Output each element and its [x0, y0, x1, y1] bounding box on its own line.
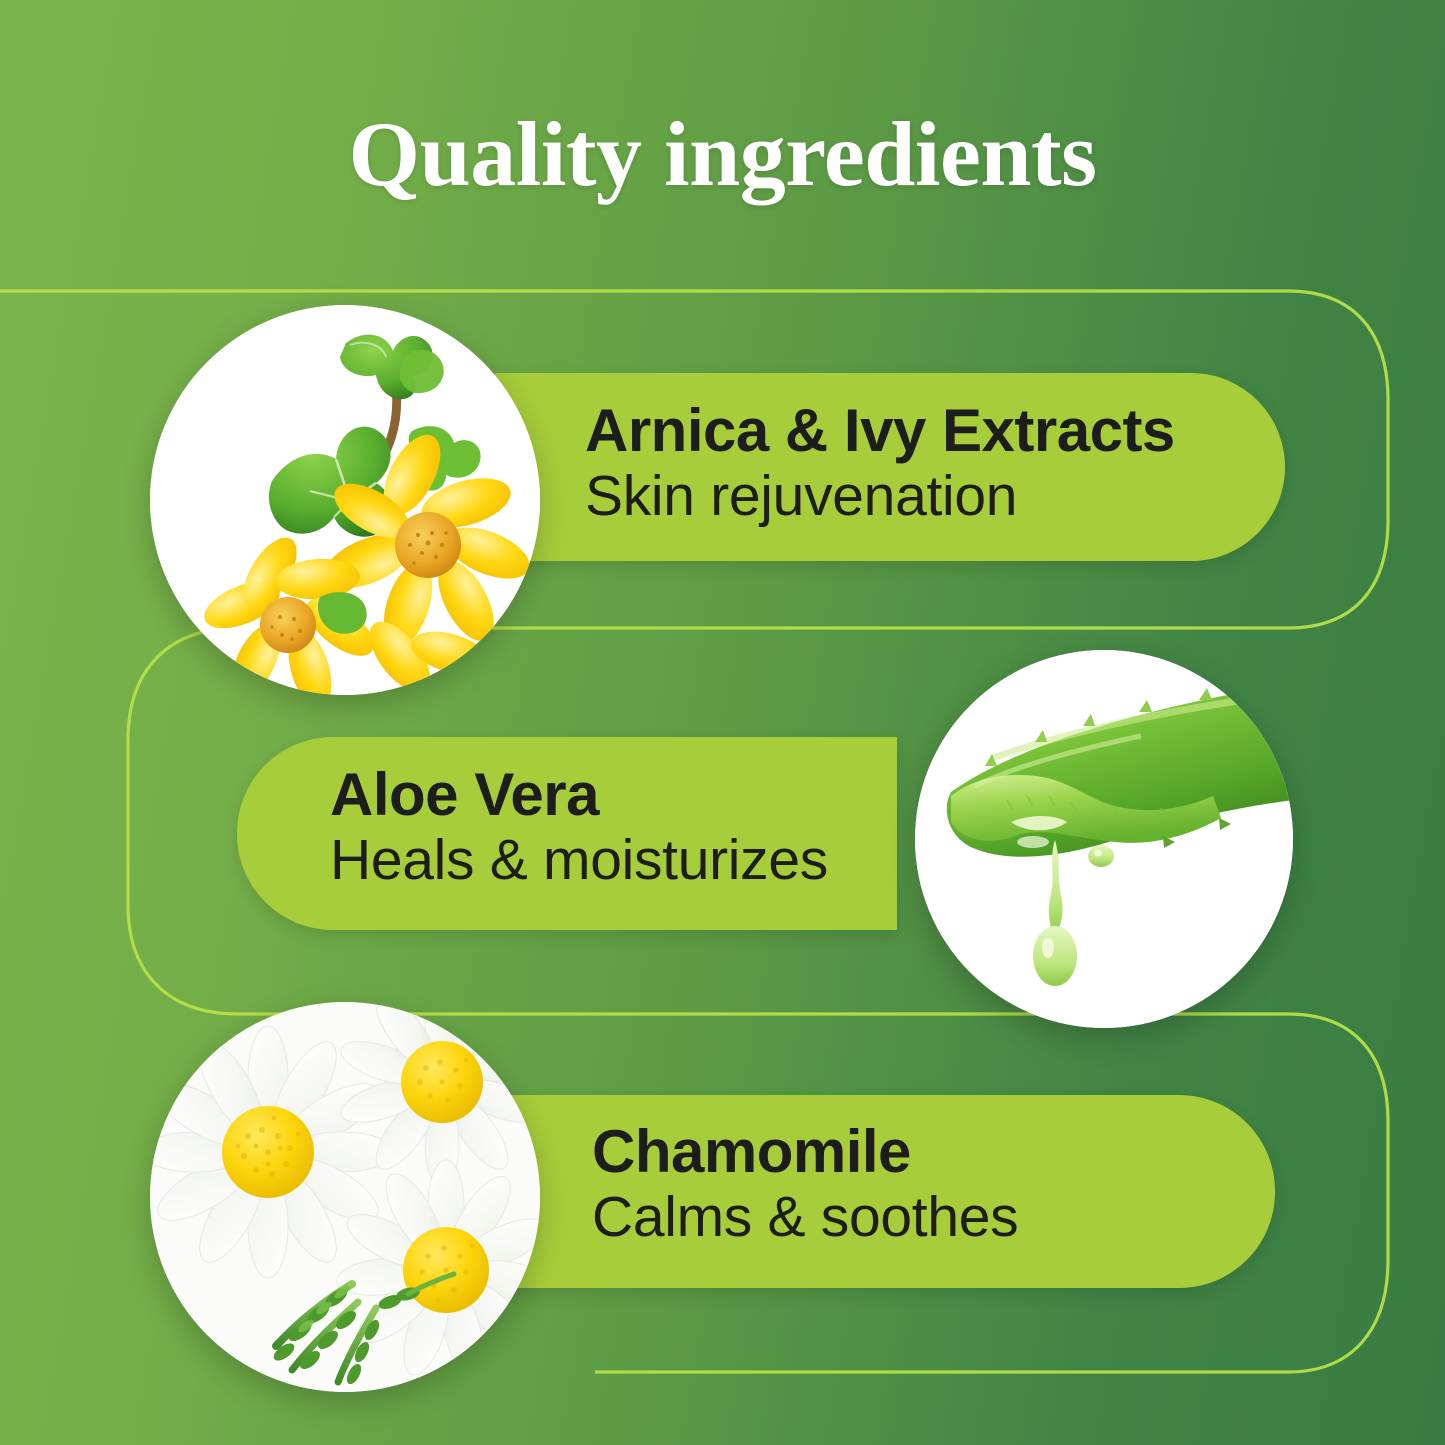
ingredient-benefit-2: Heals & moisturizes — [330, 828, 828, 893]
ingredient-name-3: Chamomile — [592, 1118, 1018, 1185]
ingredient-name-2: Aloe Vera — [330, 761, 828, 828]
ingredient-text-1: Arnica & Ivy Extracts Skin rejuvenation — [585, 397, 1175, 529]
ingredient-text-3: Chamomile Calms & soothes — [592, 1118, 1018, 1250]
arnica-ivy-photo — [150, 305, 540, 695]
aloe-vera-photo — [915, 650, 1293, 1028]
chamomile-photo — [150, 1002, 540, 1392]
page-title: Quality ingredients — [0, 108, 1445, 200]
ingredient-benefit-3: Calms & soothes — [592, 1185, 1018, 1250]
quality-ingredients-infographic: Quality ingredients Arnica & Ivy Extract… — [0, 0, 1445, 1445]
ingredient-text-2: Aloe Vera Heals & moisturizes — [330, 761, 828, 893]
ingredient-name-1: Arnica & Ivy Extracts — [585, 397, 1175, 464]
ingredient-benefit-1: Skin rejuvenation — [585, 464, 1175, 529]
